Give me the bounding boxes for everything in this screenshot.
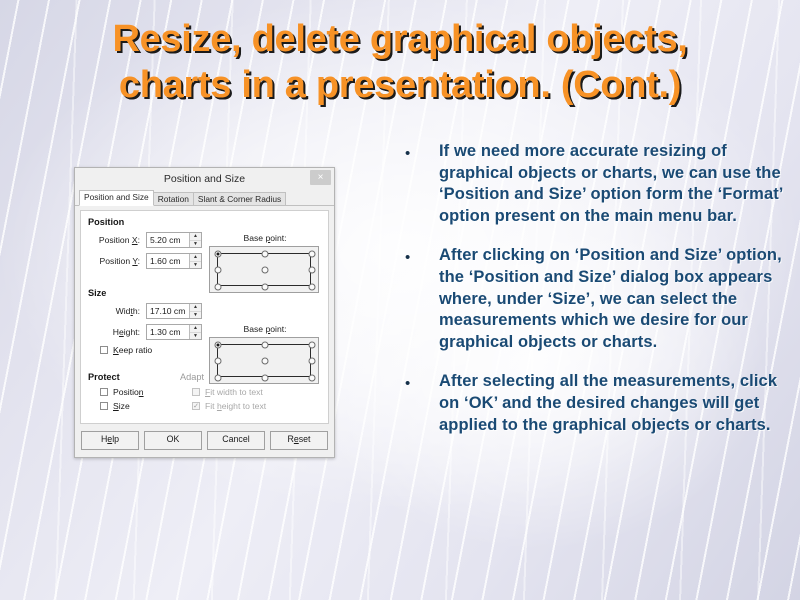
fit-height-to-text-checkbox: ✓ Fit height to text	[192, 401, 321, 411]
presentation-slide: Resize, delete graphical objects, charts…	[0, 0, 800, 600]
position-x-input[interactable]	[147, 233, 189, 247]
bullet-marker-icon: •	[405, 371, 439, 391]
basepoint-top-center[interactable]	[262, 342, 269, 349]
basepoint-middle-right[interactable]	[309, 267, 316, 274]
size-basepoint-grid[interactable]	[209, 337, 319, 384]
fit-width-to-text-checkbox: Fit width to text	[192, 387, 321, 397]
spin-down-icon[interactable]: ▼	[190, 262, 201, 269]
basepoint-bottom-left[interactable]	[215, 375, 222, 382]
bullet-marker-icon: •	[405, 245, 439, 265]
fit-width-to-text-label: Fit width to text	[205, 387, 263, 397]
position-basepoint-label: Base point:	[209, 233, 321, 243]
basepoint-top-right[interactable]	[309, 342, 316, 349]
basepoint-top-right[interactable]	[309, 251, 316, 258]
height-spin-buttons[interactable]: ▲ ▼	[189, 325, 201, 339]
checkbox-box: ✓	[192, 402, 200, 410]
reset-button[interactable]: Reset	[270, 431, 328, 450]
spin-up-icon[interactable]: ▲	[190, 325, 201, 333]
close-icon[interactable]: ×	[310, 170, 331, 185]
basepoint-bottom-center[interactable]	[262, 375, 269, 382]
checkbox-box[interactable]	[100, 388, 108, 396]
protect-position-checkbox[interactable]: Position	[100, 387, 180, 397]
protect-position-label: Position	[113, 387, 144, 397]
bullet-marker-icon: •	[405, 141, 439, 161]
dialog-tab-bar: Position and Size Rotation Slant & Corne…	[75, 190, 334, 206]
dialog-button-bar: Help OK Cancel Reset	[75, 424, 334, 457]
position-and-size-dialog: Position and Size × Position and Size Ro…	[74, 167, 335, 458]
basepoint-bottom-right[interactable]	[309, 375, 316, 382]
basepoint-bottom-right[interactable]	[309, 284, 316, 291]
tab-position-and-size[interactable]: Position and Size	[79, 190, 154, 206]
protect-section-heading: Protect	[88, 372, 180, 382]
help-button[interactable]: Help	[81, 431, 139, 450]
slide-title: Resize, delete graphical objects, charts…	[0, 16, 800, 109]
size-basepoint-label: Base point:	[209, 324, 321, 334]
width-stepper[interactable]: ▲ ▼	[146, 303, 202, 319]
spin-down-icon[interactable]: ▼	[190, 241, 201, 248]
basepoint-top-left[interactable]	[215, 251, 222, 258]
bullet-text: If we need more accurate resizing of gra…	[439, 141, 785, 227]
width-label: Width:	[88, 306, 146, 316]
checkbox-box[interactable]	[100, 346, 108, 354]
bullet-text: After clicking on ‘Position and Size’ op…	[439, 245, 785, 353]
basepoint-middle-center[interactable]	[262, 358, 269, 365]
checkbox-box	[192, 388, 200, 396]
list-item: • If we need more accurate resizing of g…	[405, 141, 785, 227]
keep-ratio-label: Keep ratio	[113, 345, 152, 355]
basepoint-bottom-left[interactable]	[215, 284, 222, 291]
basepoint-middle-left[interactable]	[215, 267, 222, 274]
width-input[interactable]	[147, 304, 189, 318]
basepoint-top-left[interactable]	[215, 342, 222, 349]
protect-section: Protect Position Size	[88, 372, 180, 415]
fit-height-to-text-label: Fit height to text	[205, 401, 266, 411]
width-spin-buttons[interactable]: ▲ ▼	[189, 304, 201, 318]
tab-slant-corner-radius[interactable]: Slant & Corner Radius	[193, 192, 286, 205]
position-section-heading: Position	[88, 217, 321, 227]
position-y-stepper[interactable]: ▲ ▼	[146, 253, 202, 269]
protect-size-label: Size	[113, 401, 130, 411]
bullet-list: • If we need more accurate resizing of g…	[405, 141, 785, 454]
checkbox-box[interactable]	[100, 402, 108, 410]
basepoint-middle-left[interactable]	[215, 358, 222, 365]
ok-button[interactable]: OK	[144, 431, 202, 450]
height-stepper[interactable]: ▲ ▼	[146, 324, 202, 340]
spin-up-icon[interactable]: ▲	[190, 254, 201, 262]
spin-up-icon[interactable]: ▲	[190, 233, 201, 241]
position-x-spin-buttons[interactable]: ▲ ▼	[189, 233, 201, 247]
position-y-input[interactable]	[147, 254, 189, 268]
list-item: • After clicking on ‘Position and Size’ …	[405, 245, 785, 353]
basepoint-top-center[interactable]	[262, 251, 269, 258]
basepoint-bottom-center[interactable]	[262, 284, 269, 291]
position-x-stepper[interactable]: ▲ ▼	[146, 232, 202, 248]
bullet-text: After selecting all the measurements, cl…	[439, 371, 785, 436]
spin-down-icon[interactable]: ▼	[190, 333, 201, 340]
basepoint-middle-center[interactable]	[262, 267, 269, 274]
height-input[interactable]	[147, 325, 189, 339]
position-y-label: Position Y:	[88, 256, 146, 266]
position-basepoint-grid[interactable]	[209, 246, 319, 293]
dialog-body: Position Position X: ▲ ▼ Position Y: ▲	[80, 210, 329, 424]
size-basepoint-widget: Base point:	[209, 324, 321, 384]
spin-down-icon[interactable]: ▼	[190, 312, 201, 319]
position-basepoint-widget: Base point:	[209, 233, 321, 293]
spin-up-icon[interactable]: ▲	[190, 304, 201, 312]
tab-rotation[interactable]: Rotation	[153, 192, 194, 205]
position-y-spin-buttons[interactable]: ▲ ▼	[189, 254, 201, 268]
basepoint-middle-right[interactable]	[309, 358, 316, 365]
dialog-title: Position and Size	[164, 173, 245, 185]
width-row: Width: ▲ ▼	[88, 303, 321, 319]
list-item: • After selecting all the measurements, …	[405, 371, 785, 436]
protect-size-checkbox[interactable]: Size	[100, 401, 180, 411]
position-x-label: Position X:	[88, 235, 146, 245]
height-label: Height:	[88, 327, 146, 337]
dialog-titlebar: Position and Size ×	[75, 168, 334, 190]
cancel-button[interactable]: Cancel	[207, 431, 265, 450]
